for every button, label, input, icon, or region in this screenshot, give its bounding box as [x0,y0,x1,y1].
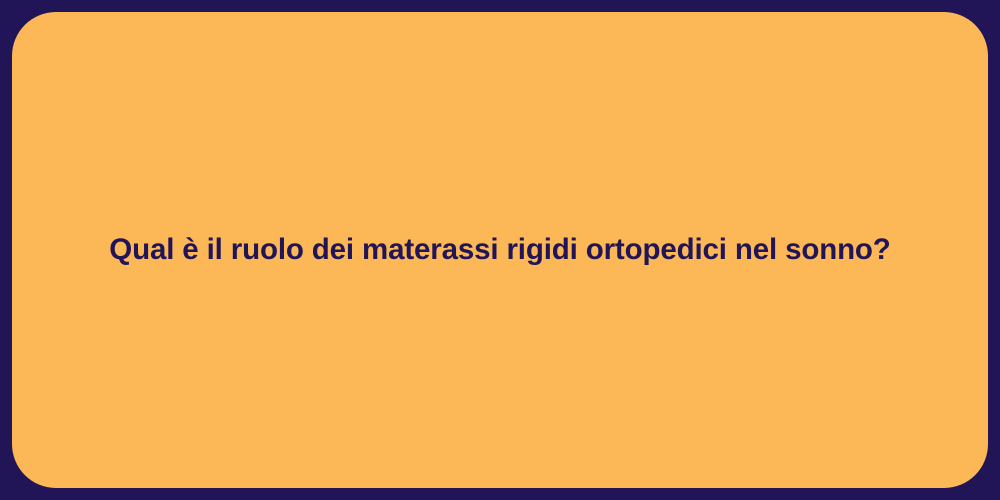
page-frame: Qual è il ruolo dei materassi rigidi ort… [0,0,1000,500]
question-headline: Qual è il ruolo dei materassi rigidi ort… [109,230,890,270]
question-card: Qual è il ruolo dei materassi rigidi ort… [12,12,988,488]
question-card-content: Qual è il ruolo dei materassi rigidi ort… [12,230,988,270]
